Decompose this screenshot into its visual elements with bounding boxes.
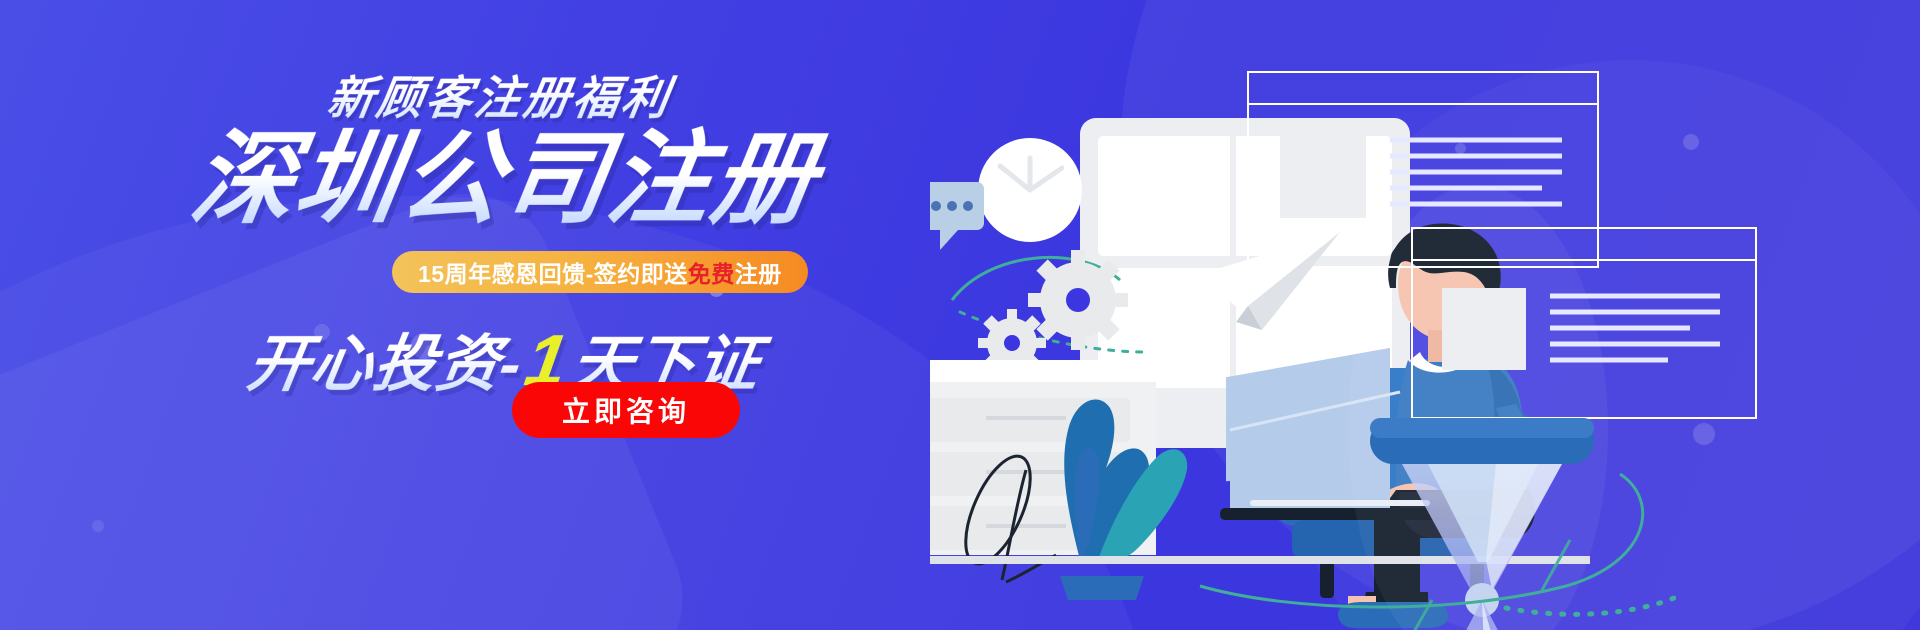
banner-eyebrow: 新顾客注册福利 [0,62,1005,128]
promo-suffix: 注册 [735,255,782,289]
banner-headline: 深圳公司注册 [0,122,1019,236]
promo-banner: 新顾客注册福利 深圳公司注册 15周年感恩回馈-签约即送免费注册 开心投资-1天… [0,0,1920,630]
banner-copy: 新顾客注册福利 深圳公司注册 15周年感恩回馈-签约即送免费注册 开心投资-1天… [0,0,1000,630]
tagline-prefix: 开心投资- [243,330,528,399]
promo-prefix: 15周年感恩回馈-签约即送 [418,255,688,289]
hero-illustration [930,0,1920,630]
promo-highlight: 免费 [688,255,735,289]
consult-now-button[interactable]: 立即咨询 [512,382,740,438]
promo-badge: 15周年感恩回馈-签约即送免费注册 [392,251,808,293]
banner-tagline: 开心投资-1天下证 [0,313,1017,403]
